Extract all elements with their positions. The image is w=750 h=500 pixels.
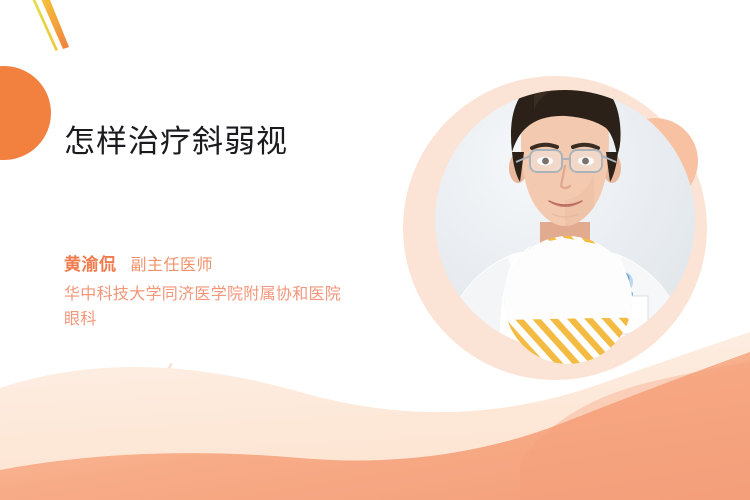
diagonal-accent-lines (33, 0, 70, 51)
doctor-name: 黄渝侃 (64, 250, 117, 275)
doctor-name-line: 黄渝侃 副主任医师 (64, 250, 464, 275)
page-title: 怎样治疗斜弱视 (64, 122, 288, 162)
orange-accent-circle (0, 66, 51, 160)
doctor-info-block: 黄渝侃 副主任医师 华中科技大学同济医学院附属协和医院 眼科 (64, 250, 464, 332)
doctor-rank: 副主任医师 (131, 251, 214, 275)
video-cover-card: 怎样治疗斜弱视 黄渝侃 副主任医师 华中科技大学同济医学院附属协和医院 眼科 (0, 0, 750, 500)
doctor-department: 眼科 (64, 307, 464, 332)
doctor-hospital: 华中科技大学同济医学院附属协和医院 (64, 282, 464, 307)
